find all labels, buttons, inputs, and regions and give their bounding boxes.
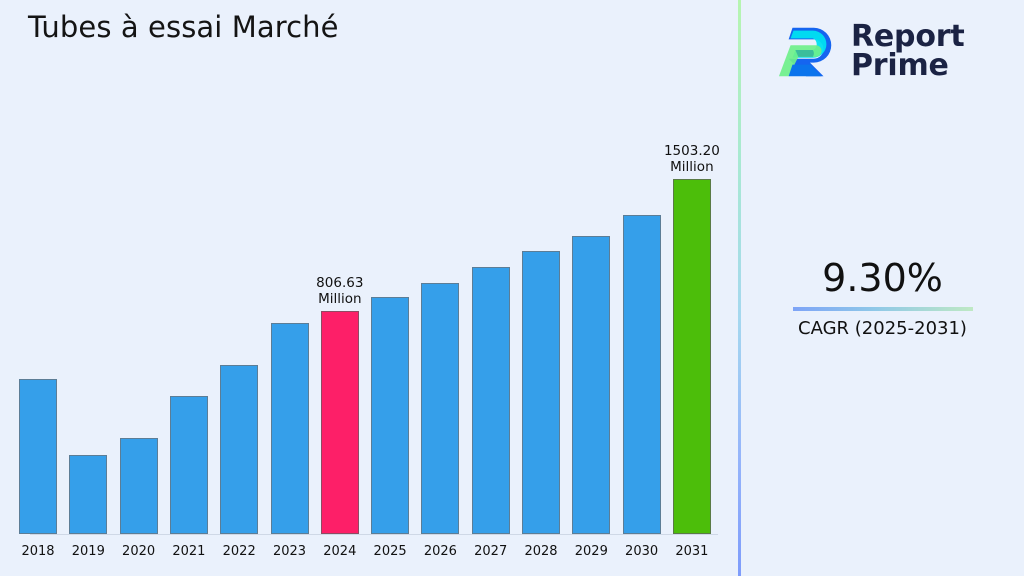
x-tick-2027: 2027 <box>472 544 510 559</box>
x-tick-2024: 2024 <box>321 544 359 559</box>
cagr-block: 9.30% CAGR (2025-2031) <box>741 255 1024 340</box>
bar-2031[interactable] <box>673 179 711 534</box>
cagr-divider-rule <box>793 307 973 311</box>
bar-value-label-2031: 1503.20Million <box>637 143 747 175</box>
bar-value-unit-2031: Million <box>637 159 747 175</box>
bar-2026[interactable] <box>421 283 459 534</box>
bar-value-number-2031: 1503.20 <box>637 143 747 159</box>
report-prime-logo: Report Prime <box>777 12 1001 90</box>
x-tick-2025: 2025 <box>371 544 409 559</box>
x-tick-2019: 2019 <box>69 544 107 559</box>
bar-2018[interactable] <box>19 379 57 534</box>
x-tick-2031: 2031 <box>673 544 711 559</box>
brand-panel: Report Prime 9.30% CAGR (2025-2031) <box>741 0 1024 576</box>
bar-2020[interactable] <box>120 438 158 534</box>
bar-2028[interactable] <box>522 251 560 534</box>
x-tick-2030: 2030 <box>623 544 661 559</box>
bar-2022[interactable] <box>220 365 258 534</box>
logo-line-1: Report <box>851 22 964 51</box>
bar-2024[interactable] <box>321 311 359 534</box>
bar-2029[interactable] <box>572 236 610 534</box>
bar-chart: 806.63Million1503.20Million 201820192020… <box>0 0 738 576</box>
x-tick-2026: 2026 <box>421 544 459 559</box>
bar-2030[interactable] <box>623 215 661 534</box>
report-slide: Tubes à essai Marché 806.63Million1503.2… <box>0 0 1024 576</box>
cagr-caption: CAGR (2025-2031) <box>741 318 1024 340</box>
x-tick-2021: 2021 <box>170 544 208 559</box>
x-axis-line <box>30 534 718 535</box>
x-tick-2020: 2020 <box>120 544 158 559</box>
bar-2025[interactable] <box>371 297 409 534</box>
x-tick-2023: 2023 <box>271 544 309 559</box>
logo-wordmark: Report Prime <box>851 22 964 81</box>
cagr-value: 9.30% <box>741 255 1024 301</box>
x-tick-2022: 2022 <box>220 544 258 559</box>
logo-line-2: Prime <box>851 51 964 80</box>
bar-2023[interactable] <box>271 323 309 534</box>
report-prime-logo-icon <box>777 20 839 82</box>
bar-2021[interactable] <box>170 396 208 534</box>
x-tick-2028: 2028 <box>522 544 560 559</box>
x-tick-2018: 2018 <box>19 544 57 559</box>
bar-2019[interactable] <box>69 455 107 534</box>
bar-2027[interactable] <box>472 267 510 534</box>
x-tick-2029: 2029 <box>572 544 610 559</box>
bar-value-number-2024: 806.63 <box>285 275 395 291</box>
chart-panel: Tubes à essai Marché 806.63Million1503.2… <box>0 0 738 576</box>
